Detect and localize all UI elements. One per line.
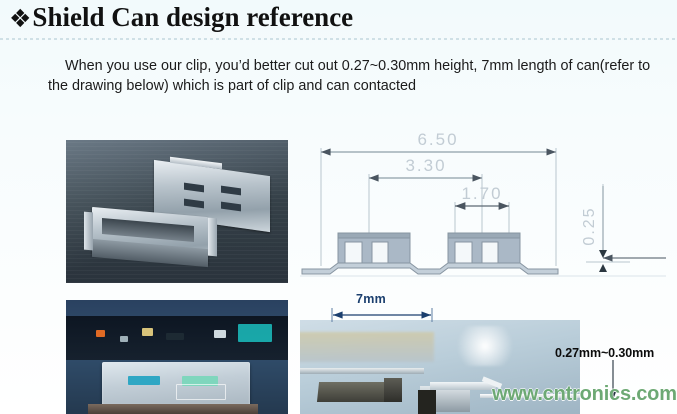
callout-length-label: 7mm [356, 292, 386, 306]
slide-title-row: ❖ Shield Can design reference [0, 0, 677, 36]
pcb-component [142, 328, 153, 336]
diamond-bullet-icon: ❖ [9, 6, 31, 31]
clip-dark-block [418, 390, 436, 414]
page-title: Shield Can design reference [32, 2, 353, 33]
shield-window [128, 376, 160, 385]
shield-can-photo [66, 140, 288, 283]
pcb-shield-photo [66, 300, 288, 414]
callout-thickness-label: 0.27mm~0.30mm [555, 346, 654, 360]
title-divider [0, 38, 677, 40]
pcb-base-edge [88, 404, 258, 414]
pcb-component [238, 324, 272, 342]
clip-profile-right [448, 233, 520, 263]
dimension-label-overall: 6.50 [417, 130, 458, 149]
dimension-label-height: 0.25 [581, 206, 598, 245]
pcb-component [166, 333, 184, 340]
clip-tip-left [384, 378, 402, 402]
clip-profile-left [338, 233, 410, 263]
slide-canvas: ❖ Shield Can design reference When you u… [0, 0, 677, 414]
clip-metal-bar [300, 368, 424, 374]
pcb-component [120, 336, 128, 342]
background-board [300, 332, 434, 362]
drawing-svg: 6.50 3.30 1.70 0.25 [300, 126, 666, 284]
pcb-component [96, 330, 105, 337]
background-highlight [450, 326, 520, 366]
pcb-component [214, 330, 226, 338]
base-rail [302, 263, 558, 274]
can-tab [84, 212, 93, 251]
clip-cross-section-drawing: 6.50 3.30 1.70 0.25 [300, 126, 666, 284]
site-watermark: www.cntronics.com [492, 383, 677, 406]
callout-length-dimension-line [330, 308, 434, 322]
dimension-label-inner: 3.30 [405, 156, 446, 175]
body-paragraph: When you use our clip, you’d better cut … [48, 57, 660, 96]
shield-clip-outline [176, 384, 226, 400]
dimension-label-feature: 1.70 [461, 184, 502, 203]
can-tab [208, 218, 217, 257]
dimension-0-25 [586, 186, 666, 272]
